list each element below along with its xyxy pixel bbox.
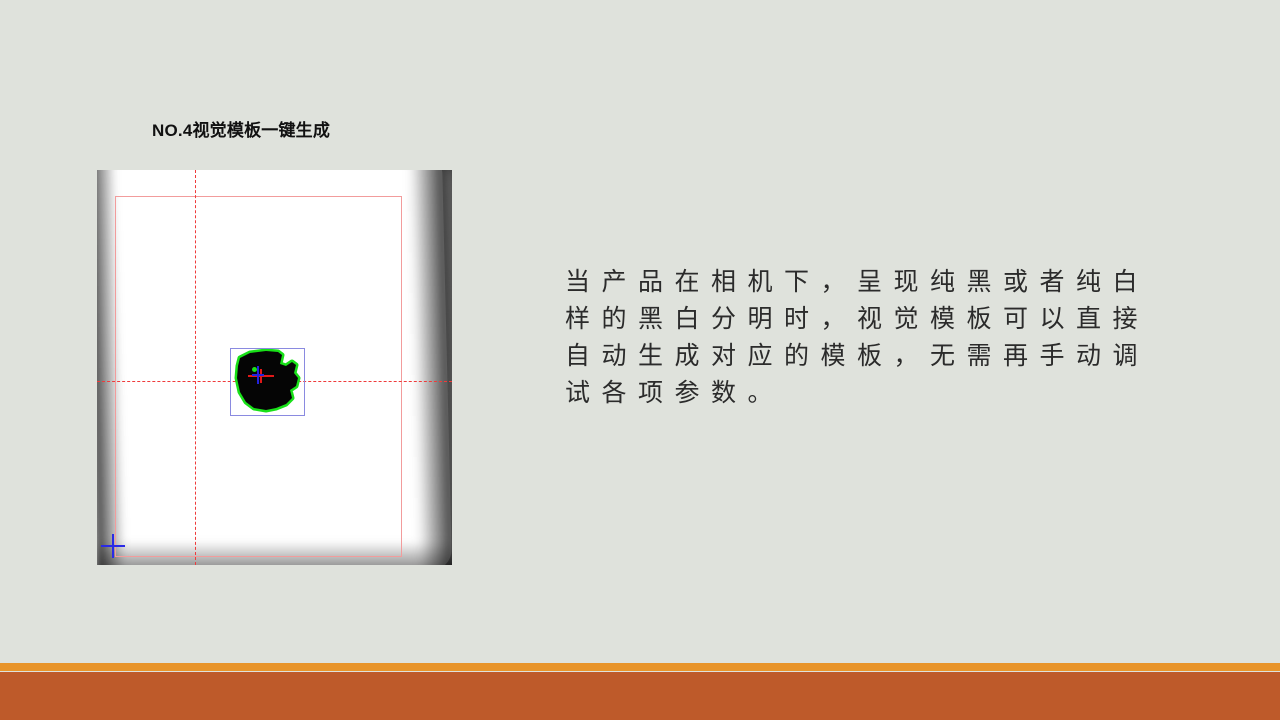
blob-bounding-box[interactable] <box>230 348 305 416</box>
body-paragraph: 当产品在相机下，呈现纯黑或者纯白样的黑白分明时，视觉模板可以直接自动生成对应的模… <box>565 263 1149 411</box>
origin-cross-icon <box>101 534 125 558</box>
footer-accent-strip <box>0 663 1280 671</box>
center-marker-red-vertical-icon <box>260 369 262 383</box>
detected-blob-group[interactable] <box>230 348 308 418</box>
vision-image-canvas <box>97 170 452 565</box>
crosshair-vertical-icon <box>195 170 196 565</box>
vision-inspection-figure[interactable] <box>97 170 452 565</box>
center-marker-blue-horizontal-icon <box>252 374 264 376</box>
origin-cross-vertical <box>112 534 114 558</box>
slide-canvas: NO.4视觉模板一键生成 <box>0 0 1280 720</box>
page-title: NO.4视觉模板一键生成 <box>152 116 330 141</box>
footer-band <box>0 672 1280 720</box>
